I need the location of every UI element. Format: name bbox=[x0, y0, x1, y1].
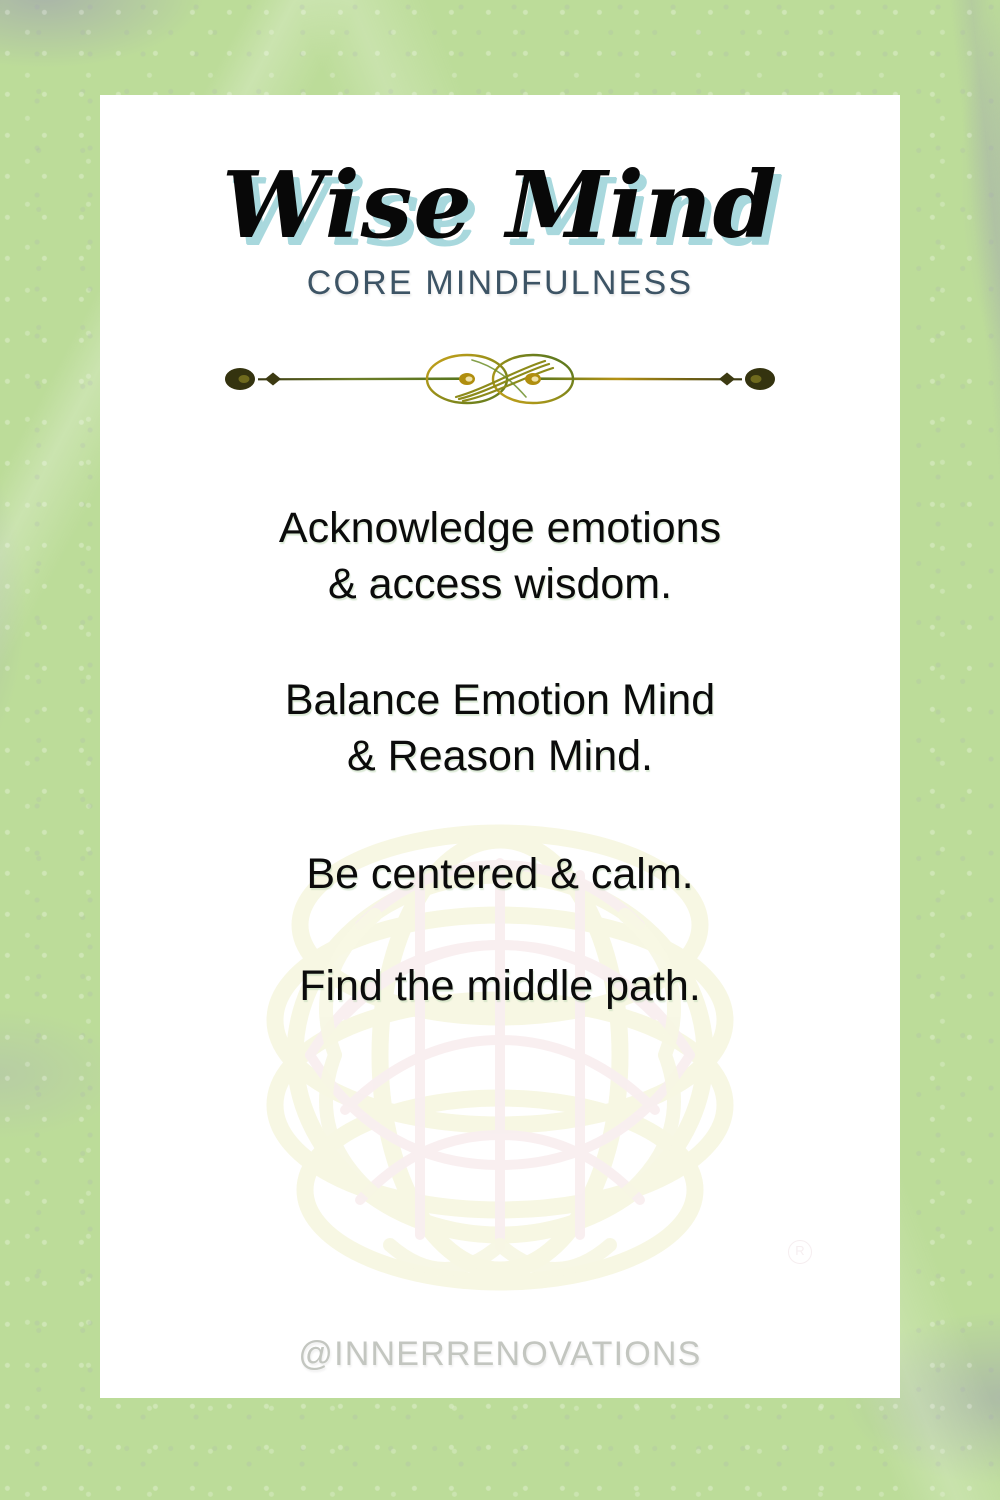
body-copy-block: Acknowledge emotions & access wisdom. Ba… bbox=[100, 501, 900, 1015]
header-block: Wise Mind CORE MINDFULNESS bbox=[100, 157, 900, 303]
body-paragraph-2: Balance Emotion Mind & Reason Mind. bbox=[100, 673, 900, 785]
ornamental-divider-icon bbox=[220, 348, 780, 410]
poster-canvas: Wise Mind CORE MINDFULNESS bbox=[0, 0, 1000, 1500]
social-handle: @INNERRENOVATIONS bbox=[100, 1335, 900, 1374]
registered-trademark-icon: R bbox=[788, 1240, 812, 1264]
body-paragraph-3: Be centered & calm. bbox=[100, 847, 900, 903]
page-title: Wise Mind bbox=[100, 157, 900, 254]
content-card: Wise Mind CORE MINDFULNESS bbox=[100, 95, 900, 1398]
body-paragraph-1: Acknowledge emotions & access wisdom. bbox=[100, 501, 900, 613]
body-paragraph-4: Find the middle path. bbox=[100, 959, 900, 1015]
page-subtitle: CORE MINDFULNESS bbox=[100, 264, 900, 303]
